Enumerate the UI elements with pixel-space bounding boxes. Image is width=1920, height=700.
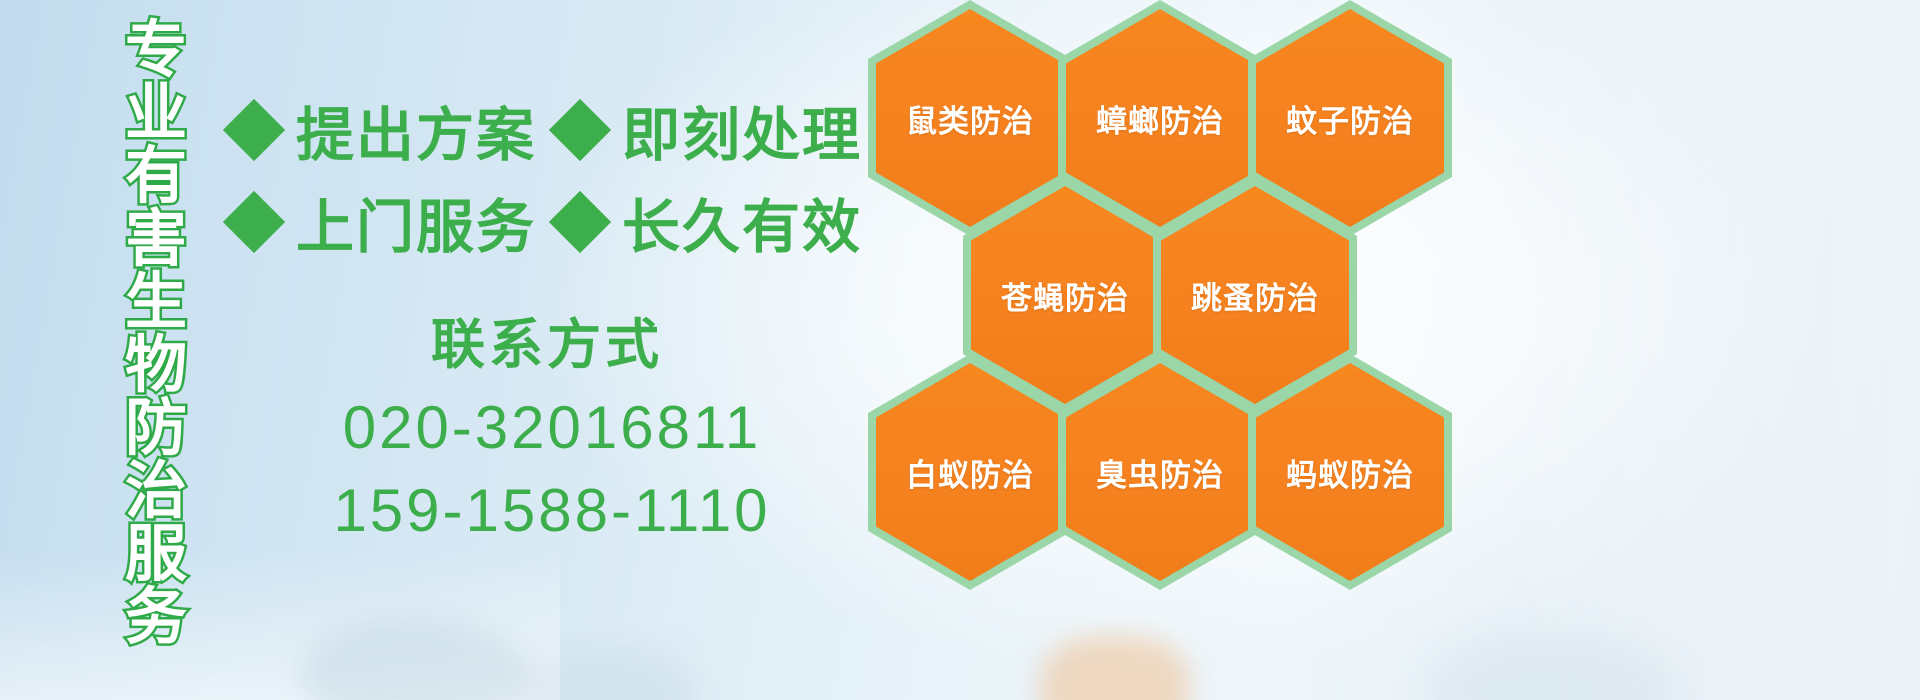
pest-control-banner: 专 业 有 害 生 物 防 治 服 务 提出方案 即刻处理 上门服务 xyxy=(0,0,1920,700)
vertical-slogan-char: 专 xyxy=(125,18,187,81)
vertical-slogan-char: 业 xyxy=(125,81,187,144)
feature-label: 长久有效 xyxy=(622,180,862,264)
hex-label: 白蚁防治 xyxy=(906,450,1034,495)
hex-label: 蚊子防治 xyxy=(1286,96,1414,141)
contact-block: 联系方式 020-32016811 159-1588-1110 xyxy=(232,300,872,545)
vertical-slogan-char: 治 xyxy=(125,459,187,522)
feature-list: 提出方案 即刻处理 上门服务 长久有效 xyxy=(232,84,872,268)
hex-inner: 臭虫防治 xyxy=(1066,363,1254,581)
diamond-bullet-icon xyxy=(549,99,611,161)
service-hexagon-grid: 鼠类防治 蟑螂防治 蚊子防治 苍蝇防治 跳蚤防治 白蚁防治 xyxy=(862,0,1462,700)
foreground-blur-blob-1 xyxy=(300,620,530,700)
feature-item-propose-plan: 提出方案 xyxy=(232,88,536,172)
diamond-bullet-icon xyxy=(223,191,285,253)
contact-title: 联系方式 xyxy=(222,300,872,379)
feature-label: 上门服务 xyxy=(296,180,536,264)
hex-inner: 白蚁防治 xyxy=(876,363,1064,581)
hex-label: 鼠类防治 xyxy=(906,96,1034,141)
hex-label: 蚂蚁防治 xyxy=(1286,450,1414,495)
feature-item-long-lasting: 长久有效 xyxy=(558,180,862,264)
vertical-slogan-char: 害 xyxy=(125,207,187,270)
phone-number-mobile[interactable]: 159-1588-1110 xyxy=(232,476,872,545)
feature-label: 即刻处理 xyxy=(622,88,862,172)
vertical-slogan-char: 防 xyxy=(125,396,187,459)
vertical-slogan-char: 服 xyxy=(125,522,187,585)
hex-inner: 蚂蚁防治 xyxy=(1256,363,1444,581)
phone-number-landline[interactable]: 020-32016811 xyxy=(232,393,872,462)
bottom-haze xyxy=(0,550,560,700)
diamond-bullet-icon xyxy=(223,99,285,161)
hex-label: 跳蚤防治 xyxy=(1191,273,1319,318)
foreground-blur-blob-2 xyxy=(520,650,700,700)
vertical-slogan-char: 务 xyxy=(125,585,187,648)
feature-item-immediate-handling: 即刻处理 xyxy=(558,88,862,172)
vertical-slogan-char: 有 xyxy=(125,144,187,207)
vertical-slogan-char: 物 xyxy=(125,333,187,396)
diamond-bullet-icon xyxy=(549,191,611,253)
hex-label: 蟑螂防治 xyxy=(1096,96,1224,141)
feature-item-onsite-service: 上门服务 xyxy=(232,180,536,264)
feature-row: 上门服务 长久有效 xyxy=(232,176,872,268)
feature-label: 提出方案 xyxy=(296,88,536,172)
hex-label: 臭虫防治 xyxy=(1096,450,1224,495)
right-glow-overlay xyxy=(1500,0,1920,700)
vertical-slogan-char: 生 xyxy=(125,270,187,333)
feature-row: 提出方案 即刻处理 xyxy=(232,84,872,176)
hex-label: 苍蝇防治 xyxy=(1001,273,1129,318)
vertical-slogan: 专 业 有 害 生 物 防 治 服 务 xyxy=(104,18,208,648)
